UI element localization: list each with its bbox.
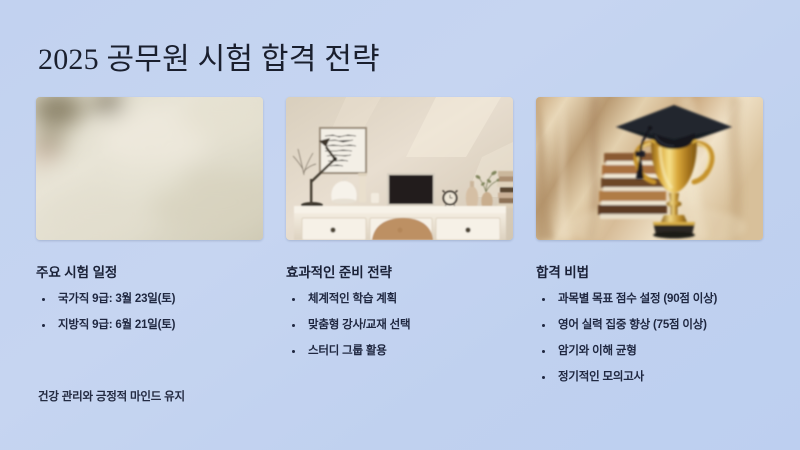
list-item: 정기적인 모의고사 <box>536 371 763 384</box>
image-study-desk <box>286 97 513 240</box>
column-heading: 합격 비법 <box>536 261 763 281</box>
list-item: 국가직 9급: 3월 23일(토) <box>36 293 263 306</box>
list-item: 지방직 9급: 6월 21일(토) <box>36 319 263 332</box>
column-exam-schedule: 주요 시험 일정 국가직 9급: 3월 23일(토) 지방직 9급: 6월 21… <box>36 97 263 397</box>
column-heading: 효과적인 준비 전략 <box>286 261 513 281</box>
bullet-list: 과목별 목표 점수 설정 (90점 이상) 영어 실력 집중 향상 (75점 이… <box>536 293 763 384</box>
bullet-list: 국가직 9급: 3월 23일(토) 지방직 9급: 6월 21일(토) <box>36 293 263 332</box>
list-item: 체계적인 학습 계획 <box>286 293 513 306</box>
column-preparation-strategy: 효과적인 준비 전략 체계적인 학습 계획 맞춤형 강사/교재 선택 스터디 그… <box>286 97 513 397</box>
list-item: 스터디 그룹 활용 <box>286 345 513 358</box>
content-columns: 주요 시험 일정 국가직 9급: 3월 23일(토) 지방직 9급: 6월 21… <box>36 97 764 397</box>
column-heading: 주요 시험 일정 <box>36 261 263 281</box>
bullet-list: 체계적인 학습 계획 맞춤형 강사/교재 선택 스터디 그룹 활용 <box>286 293 513 358</box>
study-desk-scene-icon <box>286 97 513 240</box>
image-blurred-fabric <box>36 97 263 240</box>
trophy-graduation-cap-icon <box>536 97 763 240</box>
list-item: 과목별 목표 점수 설정 (90점 이상) <box>536 293 763 306</box>
list-item: 맞춤형 강사/교재 선택 <box>286 319 513 332</box>
image-trophy <box>536 97 763 240</box>
list-item: 영어 실력 집중 향상 (75점 이상) <box>536 319 763 332</box>
footer-note: 건강 관리와 긍정적 마인드 유지 <box>38 388 185 404</box>
column-success-tips: 합격 비법 과목별 목표 점수 설정 (90점 이상) 영어 실력 집중 향상 … <box>536 97 763 397</box>
blurred-cream-fabric-icon <box>36 97 263 240</box>
page-title: 2025 공무원 시험 합격 전략 <box>38 34 380 78</box>
list-item: 암기와 이해 균형 <box>536 345 763 358</box>
